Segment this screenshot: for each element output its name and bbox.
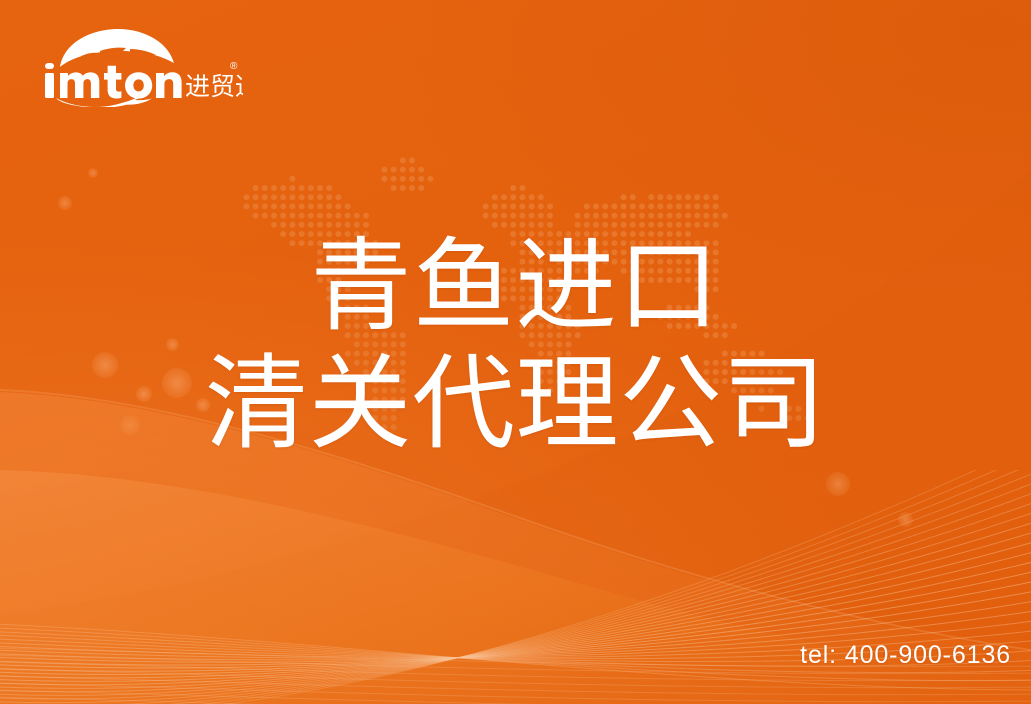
logo-wordmark xyxy=(45,63,182,99)
registered-mark-icon: ® xyxy=(230,61,238,72)
globe-arc-icon xyxy=(60,29,174,67)
headline-line-1: 青鱼进口 xyxy=(0,228,1031,346)
contact-phone[interactable]: tel: 400-900-6136 xyxy=(800,641,1011,670)
promo-banner: 进贸通 ® 青鱼进口 清关代理公司 tel: 400-900-6136 xyxy=(0,0,1031,704)
headline-line-2: 清关代理公司 xyxy=(0,346,1031,462)
logo-chinese-name: 进贸通 xyxy=(185,72,243,101)
brand-logo[interactable]: 进贸通 ® xyxy=(38,27,243,107)
logo-artwork: 进贸通 ® xyxy=(38,27,243,107)
page-title: 青鱼进口 清关代理公司 xyxy=(0,228,1031,462)
